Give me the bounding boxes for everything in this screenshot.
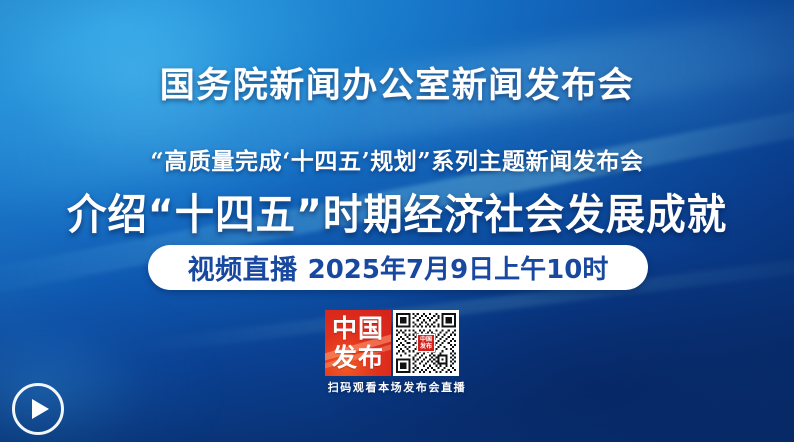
- live-badge-label: 视频直播: [188, 248, 298, 287]
- qr-code[interactable]: 中国 发布: [393, 310, 459, 376]
- china-release-logo: 中国 发布: [325, 310, 391, 376]
- live-badge-datetime: 2025年7月9日上午10时: [308, 249, 609, 286]
- live-broadcast-badge: 视频直播 2025年7月9日上午10时: [148, 245, 648, 290]
- series-subtitle: “高质量完成‘十四五’规划”系列主题新闻发布会: [0, 142, 794, 176]
- poster-content: 国务院新闻办公室新闻发布会 “高质量完成‘十四五’规划”系列主题新闻发布会 介绍…: [0, 0, 794, 442]
- scan-qr-caption: 扫码观看本场发布会直播: [0, 379, 794, 395]
- brand-and-qr-group: 中国 发布: [325, 310, 459, 376]
- qr-logo-line-1: 中国: [420, 336, 432, 343]
- logo-line-1: 中国: [332, 314, 384, 343]
- video-poster-frame: 国务院新闻办公室新闻发布会 “高质量完成‘十四五’规划”系列主题新闻发布会 介绍…: [0, 0, 794, 442]
- play-triangle-icon: [32, 399, 49, 419]
- main-headline: 介绍“十四五”时期经济社会发展成就: [24, 181, 770, 242]
- play-button[interactable]: [12, 383, 64, 435]
- qr-center-logo: 中国 发布: [417, 334, 435, 352]
- logo-line-2: 发布: [332, 343, 384, 372]
- qr-logo-line-2: 发布: [420, 343, 432, 350]
- page-title-organization: 国务院新闻办公室新闻发布会: [0, 57, 794, 108]
